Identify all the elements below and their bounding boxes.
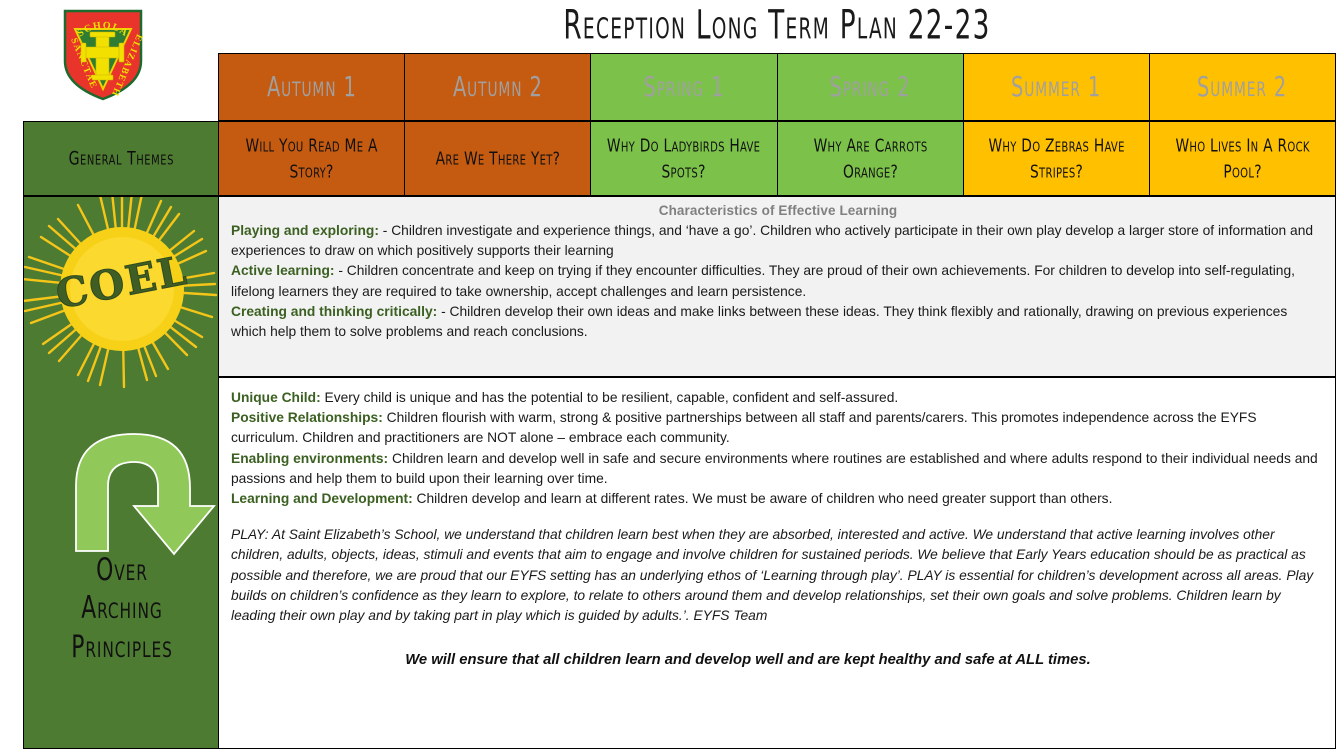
general-themes-label: General Themes <box>23 121 219 196</box>
theme-text: Who lives in a rock pool? <box>1164 132 1321 185</box>
principle-body: Children develop and learn at different … <box>413 491 1113 506</box>
principle-learning-and-development: Learning and Development: Children devel… <box>231 489 1325 509</box>
coel-panel: Characteristics of Effective Learning Pl… <box>218 196 1336 377</box>
overarching-line-2: Arching <box>34 588 210 632</box>
school-crest-logo: SCHOLA SANCTAE ELIZABETH <box>55 3 151 103</box>
overarching-principles-label: Over Arching Principles <box>24 552 219 667</box>
theme-text: Will you read me a story? <box>233 132 390 185</box>
term-header-row: Autumn 1 Autumn 2 Spring 1 Spring 2 Summ… <box>218 53 1336 121</box>
principle-term: Positive Relationships: <box>231 410 383 425</box>
term-header-label: Spring 2 <box>830 71 911 103</box>
term-header-summer-2[interactable]: Summer 2 <box>1150 54 1335 120</box>
coel-panel-heading: Characteristics of Effective Learning <box>231 203 1325 218</box>
principle-term: Learning and Development: <box>231 491 413 506</box>
theme-text: Are we there yet? <box>435 145 560 171</box>
term-header-label: Autumn 1 <box>267 71 357 103</box>
principle-body: Children flourish with warm, strong & po… <box>231 410 1257 445</box>
principle-unique-child: Unique Child: Every child is unique and … <box>231 388 1325 408</box>
theme-text: Why do zebras have stripes? <box>978 132 1135 185</box>
coel-item-creating-and-thinking-critically: Creating and thinking critically: - Chil… <box>231 302 1325 342</box>
overarching-line-3: Principles <box>34 626 210 670</box>
term-header-label: Spring 1 <box>643 71 724 103</box>
theme-cell-summer-2[interactable]: Who lives in a rock pool? <box>1150 122 1335 195</box>
principle-enabling-environments: Enabling environments: Children learn an… <box>231 449 1325 489</box>
theme-cell-autumn-2[interactable]: Are we there yet? <box>405 122 591 195</box>
theme-cell-summer-1[interactable]: Why do zebras have stripes? <box>964 122 1150 195</box>
theme-cell-spring-1[interactable]: Why do ladybirds have spots? <box>591 122 777 195</box>
term-header-autumn-2[interactable]: Autumn 2 <box>405 54 591 120</box>
principle-term: Enabling environments: <box>231 451 388 466</box>
play-statement-paragraph: PLAY: At Saint Elizabeth’s School, we un… <box>231 525 1325 626</box>
coel-term: Active learning: <box>231 263 335 278</box>
term-header-label: Autumn 2 <box>453 71 543 103</box>
general-themes-label-text: General Themes <box>68 147 173 169</box>
left-sidebar: COEL Over Arching Principles <box>23 196 219 749</box>
theme-text: Why do ladybirds have spots? <box>605 132 762 185</box>
principle-positive-relationships: Positive Relationships: Children flouris… <box>231 408 1325 448</box>
overarching-principles-panel: Unique Child: Every child is unique and … <box>218 377 1336 749</box>
coel-item-active-learning: Active learning: - Children concentrate … <box>231 261 1325 301</box>
theme-cell-spring-2[interactable]: Why are carrots orange? <box>778 122 964 195</box>
principle-body: Children learn and develop well in safe … <box>231 451 1318 486</box>
theme-cell-autumn-1[interactable]: Will you read me a story? <box>219 122 405 195</box>
coel-item-playing-and-exploring: Playing and exploring: - Children invest… <box>231 221 1325 261</box>
term-header-label: Summer 2 <box>1197 71 1287 103</box>
principle-term: Unique Child: <box>231 390 321 405</box>
closing-statement: We will ensure that all children learn a… <box>231 652 1325 668</box>
header-zone: SCHOLA SANCTAE ELIZABETH Reception Long … <box>0 0 1336 53</box>
themes-row: Will you read me a story? Are we there y… <box>218 121 1336 196</box>
coel-term: Creating and thinking critically: <box>231 304 437 319</box>
arch-arrow-icon <box>62 424 219 569</box>
term-header-spring-2[interactable]: Spring 2 <box>778 54 964 120</box>
coel-term: Playing and exploring: <box>231 223 379 238</box>
term-header-autumn-1[interactable]: Autumn 1 <box>219 54 405 120</box>
theme-text: Why are carrots orange? <box>791 132 948 185</box>
term-header-label: Summer 1 <box>1011 71 1101 103</box>
term-header-summer-1[interactable]: Summer 1 <box>964 54 1150 120</box>
coel-body: - Children concentrate and keep on tryin… <box>231 263 1295 298</box>
principle-body: Every child is unique and has the potent… <box>321 390 899 405</box>
page-title: Reception Long Term Plan 22-23 <box>296 2 1257 49</box>
term-header-spring-1[interactable]: Spring 1 <box>591 54 777 120</box>
coel-body: - Children investigate and experience th… <box>231 223 1313 258</box>
